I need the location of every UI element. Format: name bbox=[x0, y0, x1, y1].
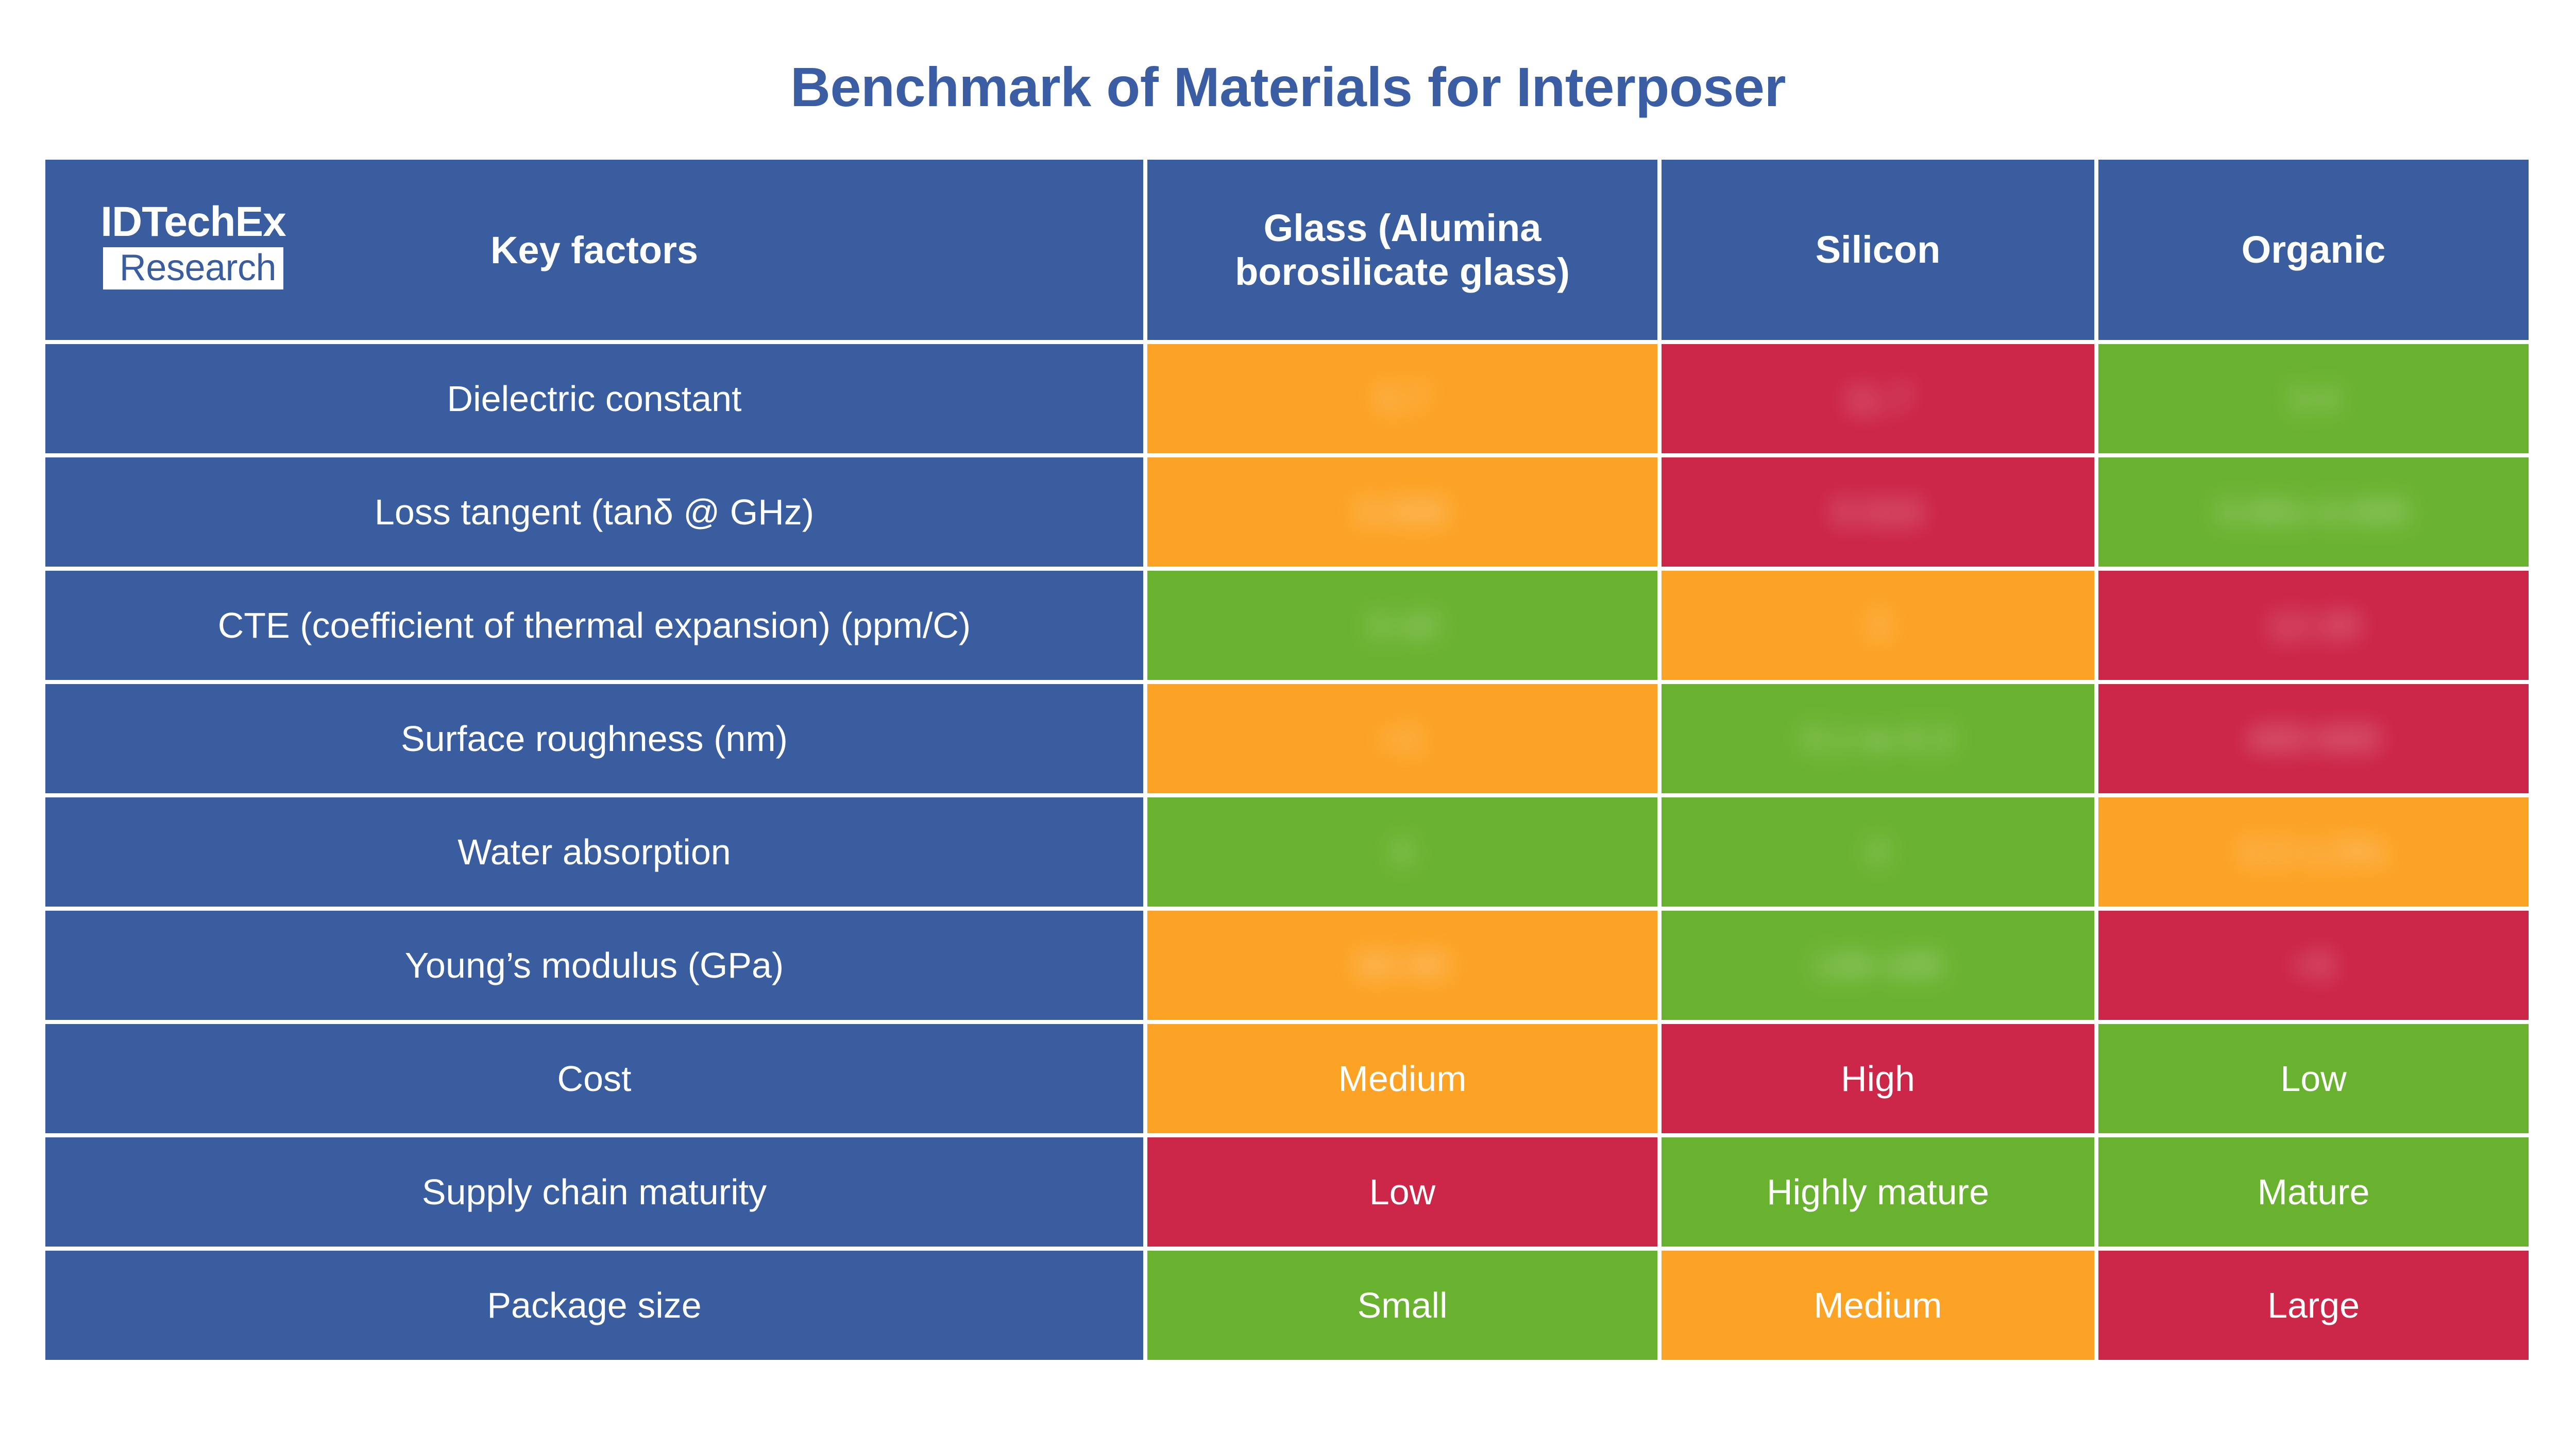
value-text-redacted: 5.7 bbox=[1369, 379, 1435, 419]
value-cell-organic: <5 bbox=[2098, 911, 2529, 1020]
value-cell-silicon: 0 bbox=[1662, 797, 2094, 907]
value-cell-silicon: 0.1 to 0.3 bbox=[1662, 684, 2094, 793]
value-text: Medium bbox=[1330, 1059, 1475, 1099]
table-row: Loss tangent (tanδ @ GHz)0.0060.0150.001… bbox=[45, 457, 2529, 567]
value-cell-organic: 12-20 bbox=[2098, 571, 2529, 680]
value-cell-silicon: 0.015 bbox=[1662, 457, 2094, 567]
value-text-redacted: 130-185 bbox=[1804, 946, 1953, 985]
value-text-redacted: 0.1 to 0.3 bbox=[1794, 719, 1961, 759]
value-text-redacted: 0.015 bbox=[1824, 492, 1931, 532]
header-cell-silicon: Silicon bbox=[1662, 160, 2094, 340]
value-text-redacted: <5 bbox=[2285, 946, 2343, 985]
table-row: Water absorption000.2-1.0% bbox=[45, 797, 2529, 907]
value-cell-silicon: Medium bbox=[1662, 1251, 2094, 1360]
header-label-silicon: Silicon bbox=[1803, 228, 1953, 271]
value-text: Low bbox=[2272, 1059, 2354, 1099]
header-cell-glass: Glass (Alumina borosilicate glass) bbox=[1147, 160, 1657, 340]
value-text: Highly mature bbox=[1758, 1172, 1997, 1212]
value-text: Large bbox=[2259, 1286, 2368, 1325]
value-cell-organic: Mature bbox=[2098, 1137, 2529, 1247]
value-text-redacted: 400-600 bbox=[2239, 719, 2388, 759]
value-text-redacted: 0 bbox=[1860, 832, 1896, 872]
row-label-cell: Dielectric constant bbox=[45, 344, 1143, 453]
value-text: Small bbox=[1349, 1286, 1455, 1325]
value-text-redacted: 0.2-1.0% bbox=[2233, 832, 2394, 872]
value-cell-organic: Large bbox=[2098, 1251, 2529, 1360]
value-cell-glass: 0 bbox=[1147, 797, 1657, 907]
benchmark-table-page: Benchmark of Materials for Interposer ID… bbox=[0, 0, 2576, 1449]
value-cell-silicon: High bbox=[1662, 1024, 2094, 1133]
value-cell-glass: <1 bbox=[1147, 684, 1657, 793]
row-label-cell: Water absorption bbox=[45, 797, 1143, 907]
value-cell-organic: 3.4 bbox=[2098, 344, 2529, 453]
table-row: Surface roughness (nm)<10.1 to 0.3400-60… bbox=[45, 684, 2529, 793]
value-cell-glass: 60-90 bbox=[1147, 911, 1657, 1020]
value-cell-glass: Medium bbox=[1147, 1024, 1657, 1133]
table-row: Supply chain maturityLowHighly matureMat… bbox=[45, 1137, 2529, 1247]
value-cell-glass: Small bbox=[1147, 1251, 1657, 1360]
value-text-redacted: 0.001-0.005 bbox=[2209, 492, 2418, 532]
value-text-redacted: 3-10 bbox=[1358, 606, 1447, 645]
row-label: Dielectric constant bbox=[437, 379, 752, 419]
header-cell-key-factors: IDTechEx Research Key factors bbox=[45, 160, 1143, 340]
row-label-cell: Surface roughness (nm) bbox=[45, 684, 1143, 793]
value-text-redacted: <1 bbox=[1374, 719, 1431, 759]
row-label: Water absorption bbox=[447, 832, 741, 872]
value-cell-organic: Low bbox=[2098, 1024, 2529, 1133]
table-row: Package sizeSmallMediumLarge bbox=[45, 1251, 2529, 1360]
header-label-key-factors: Key factors bbox=[45, 160, 1143, 340]
value-cell-silicon: 11.7 bbox=[1662, 344, 2094, 453]
value-cell-silicon: 130-185 bbox=[1662, 911, 2094, 1020]
row-label: Young’s modulus (GPa) bbox=[395, 946, 794, 985]
table-header-row: IDTechEx Research Key factors Glass (Alu… bbox=[45, 160, 2529, 340]
row-label: Surface roughness (nm) bbox=[391, 719, 798, 759]
value-text-redacted: 11.7 bbox=[1836, 379, 1920, 419]
value-text: Low bbox=[1361, 1172, 1444, 1212]
value-text-redacted: 3 bbox=[1860, 606, 1896, 645]
value-cell-silicon: 3 bbox=[1662, 571, 2094, 680]
value-cell-glass: 5.7 bbox=[1147, 344, 1657, 453]
row-label-cell: Package size bbox=[45, 1251, 1143, 1360]
header-cell-organic: Organic bbox=[2098, 160, 2529, 340]
page-title: Benchmark of Materials for Interposer bbox=[0, 57, 2576, 118]
row-label: Supply chain maturity bbox=[412, 1172, 777, 1212]
value-cell-organic: 400-600 bbox=[2098, 684, 2529, 793]
row-label: Loss tangent (tanδ @ GHz) bbox=[364, 492, 824, 532]
row-label-cell: Young’s modulus (GPa) bbox=[45, 911, 1143, 1020]
value-text: High bbox=[1833, 1059, 1923, 1099]
value-text-redacted: 3.4 bbox=[2280, 379, 2347, 419]
row-label: CTE (coefficient of thermal expansion) (… bbox=[208, 606, 981, 645]
value-cell-glass: 3-10 bbox=[1147, 571, 1657, 680]
value-text-redacted: 0 bbox=[1384, 832, 1421, 872]
row-label-cell: Loss tangent (tanδ @ GHz) bbox=[45, 457, 1143, 567]
value-text-redacted: 60-90 bbox=[1348, 946, 1456, 985]
header-label-organic: Organic bbox=[2229, 228, 2398, 271]
table-row: CTE (coefficient of thermal expansion) (… bbox=[45, 571, 2529, 680]
value-text-redacted: 12-20 bbox=[2259, 606, 2368, 645]
row-label: Cost bbox=[547, 1059, 642, 1099]
value-text-redacted: 0.006 bbox=[1349, 492, 1455, 532]
benchmark-table: IDTechEx Research Key factors Glass (Alu… bbox=[45, 160, 2529, 1360]
row-label: Package size bbox=[477, 1286, 711, 1325]
value-cell-organic: 0.001-0.005 bbox=[2098, 457, 2529, 567]
row-label-cell: Supply chain maturity bbox=[45, 1137, 1143, 1247]
table-row: CostMediumHighLow bbox=[45, 1024, 2529, 1133]
table-row: Young’s modulus (GPa)60-90130-185<5 bbox=[45, 911, 2529, 1020]
row-label-cell: Cost bbox=[45, 1024, 1143, 1133]
value-text: Medium bbox=[1806, 1286, 1951, 1325]
value-cell-glass: Low bbox=[1147, 1137, 1657, 1247]
value-cell-silicon: Highly mature bbox=[1662, 1137, 2094, 1247]
row-label-cell: CTE (coefficient of thermal expansion) (… bbox=[45, 571, 1143, 680]
value-cell-organic: 0.2-1.0% bbox=[2098, 797, 2529, 907]
header-label-glass: Glass (Alumina borosilicate glass) bbox=[1147, 206, 1657, 294]
value-text: Mature bbox=[2249, 1172, 2378, 1212]
table-row: Dielectric constant5.711.73.4 bbox=[45, 344, 2529, 453]
value-cell-glass: 0.006 bbox=[1147, 457, 1657, 567]
